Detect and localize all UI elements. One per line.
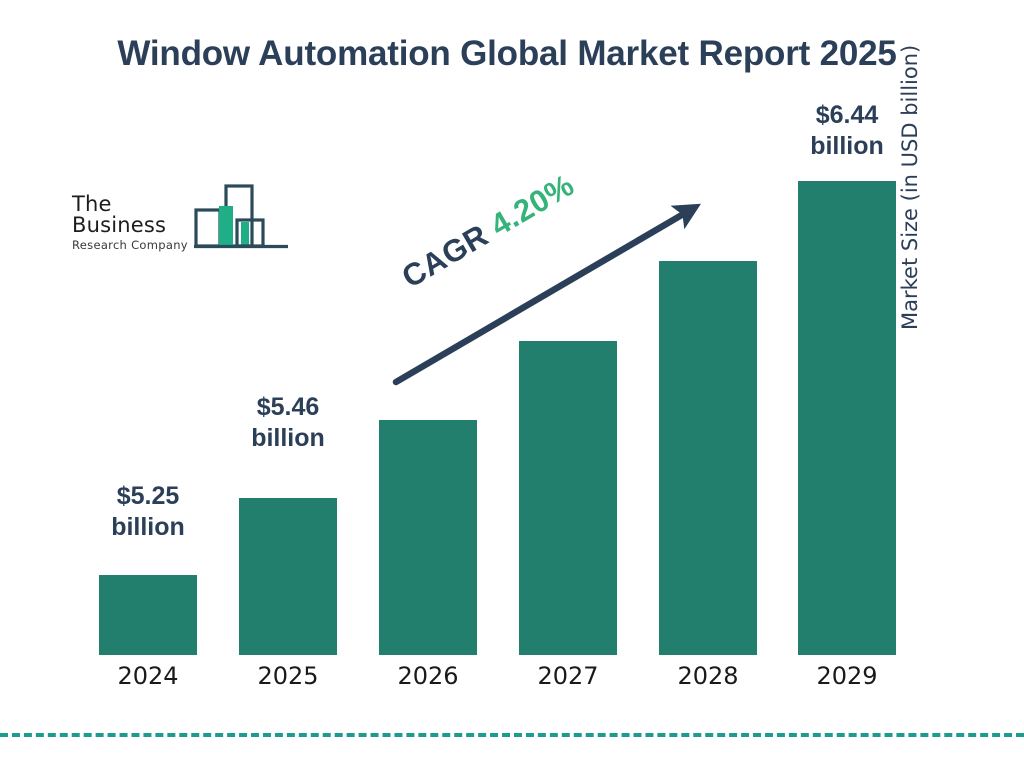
bar-label-2024: $5.25 billion <box>83 481 213 542</box>
footer-divider <box>0 733 1024 737</box>
cagr-annotation: CAGR 4.20% <box>396 167 581 295</box>
x-tick-2027: 2027 <box>503 662 633 690</box>
bar-label-2029: $6.44 billion <box>782 100 912 161</box>
bar-label-2025-amount: $5.46 <box>223 392 353 423</box>
plot-area: $5.25 billion $5.46 billion $6.44 billio… <box>0 0 1024 768</box>
company-logo: The Business Research Company <box>70 188 285 254</box>
x-tick-2029: 2029 <box>782 662 912 690</box>
x-tick-2028: 2028 <box>643 662 773 690</box>
bar-label-2029-unit: billion <box>782 131 912 162</box>
page-title: Window Automation Global Market Report 2… <box>92 32 922 77</box>
bar-2026 <box>379 420 477 655</box>
bar-label-2029-amount: $6.44 <box>782 100 912 131</box>
logo-line-2: Research Company <box>72 240 212 252</box>
bar-2025 <box>239 498 337 655</box>
bar-2027 <box>519 341 617 655</box>
logo-wordmark: The Business Research Company <box>72 194 212 252</box>
bar-label-2024-amount: $5.25 <box>83 481 213 512</box>
bar-2024 <box>99 575 197 655</box>
bar-2029 <box>798 181 896 655</box>
bar-chart-logo-mark <box>194 178 290 254</box>
logo-line-1: The Business <box>72 194 212 236</box>
bar-label-2024-unit: billion <box>83 512 213 543</box>
x-tick-2024: 2024 <box>83 662 213 690</box>
x-tick-2025: 2025 <box>223 662 353 690</box>
bar-label-2025-unit: billion <box>223 423 353 454</box>
chart-canvas: Window Automation Global Market Report 2… <box>0 0 1024 768</box>
cagr-value: 4.20% <box>484 167 580 243</box>
bar-label-2025: $5.46 billion <box>223 392 353 453</box>
growth-trend-arrow <box>0 0 1024 768</box>
bar-2028 <box>659 261 757 655</box>
x-tick-2026: 2026 <box>363 662 493 690</box>
cagr-label: CAGR <box>396 217 494 294</box>
